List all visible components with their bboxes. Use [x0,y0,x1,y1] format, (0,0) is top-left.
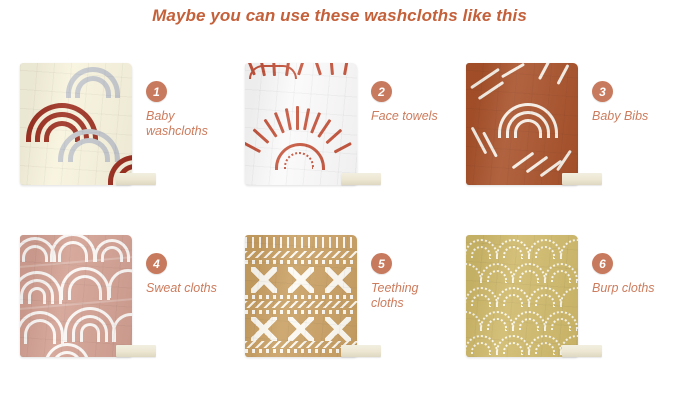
hang-tab [116,345,156,357]
cloth-swatch-white-sunburst [245,63,357,185]
cloth-swatch-olive-dotted-scallops [466,235,578,357]
cloth-swatch-rose-white-arches [20,235,132,357]
product-image-4 [20,235,138,363]
hang-tab [341,345,381,357]
product-cell-6[interactable]: 6 Burp cloths [450,227,676,399]
badge-number-2: 2 [371,81,392,102]
product-image-3 [466,63,584,191]
product-cell-5[interactable]: 5 Teething cloths [229,227,455,399]
product-caption-5: 5 Teething cloths [371,253,453,311]
product-caption-1: 1 Baby washcloths [146,81,228,139]
product-label-5: Teething cloths [371,281,453,311]
product-caption-3: 3 Baby Bibs [592,81,674,124]
product-cell-2[interactable]: 2 Face towels [229,55,455,227]
product-cell-3[interactable]: 3 Baby Bibs [450,55,676,227]
product-label-6: Burp cloths [592,281,674,296]
product-grid: 1 Baby washcloths [0,55,679,420]
product-caption-6: 6 Burp cloths [592,253,674,296]
cloth-swatch-rust-white-rainbow [466,63,578,185]
product-image-2 [245,63,363,191]
product-image-5 [245,235,363,363]
badge-number-1: 1 [146,81,167,102]
badge-number-4: 4 [146,253,167,274]
product-label-3: Baby Bibs [592,109,674,124]
product-caption-4: 4 Sweat cloths [146,253,228,296]
product-caption-2: 2 Face towels [371,81,453,124]
product-label-2: Face towels [371,109,453,124]
product-image-6 [466,235,584,363]
cloth-swatch-cream-maroon-rainbow [20,63,132,185]
badge-number-5: 5 [371,253,392,274]
hang-tab [116,173,156,185]
product-image-1 [20,63,138,191]
product-cell-4[interactable]: 4 Sweat cloths [4,227,230,399]
badge-number-3: 3 [592,81,613,102]
hang-tab [562,173,602,185]
hang-tab [562,345,602,357]
cloth-swatch-ochre-mudcloth [245,235,357,357]
product-cell-1[interactable]: 1 Baby washcloths [4,55,230,227]
product-label-4: Sweat cloths [146,281,228,296]
page-title: Maybe you can use these washcloths like … [0,6,679,26]
product-label-1: Baby washcloths [146,109,228,139]
badge-number-6: 6 [592,253,613,274]
hang-tab [341,173,381,185]
